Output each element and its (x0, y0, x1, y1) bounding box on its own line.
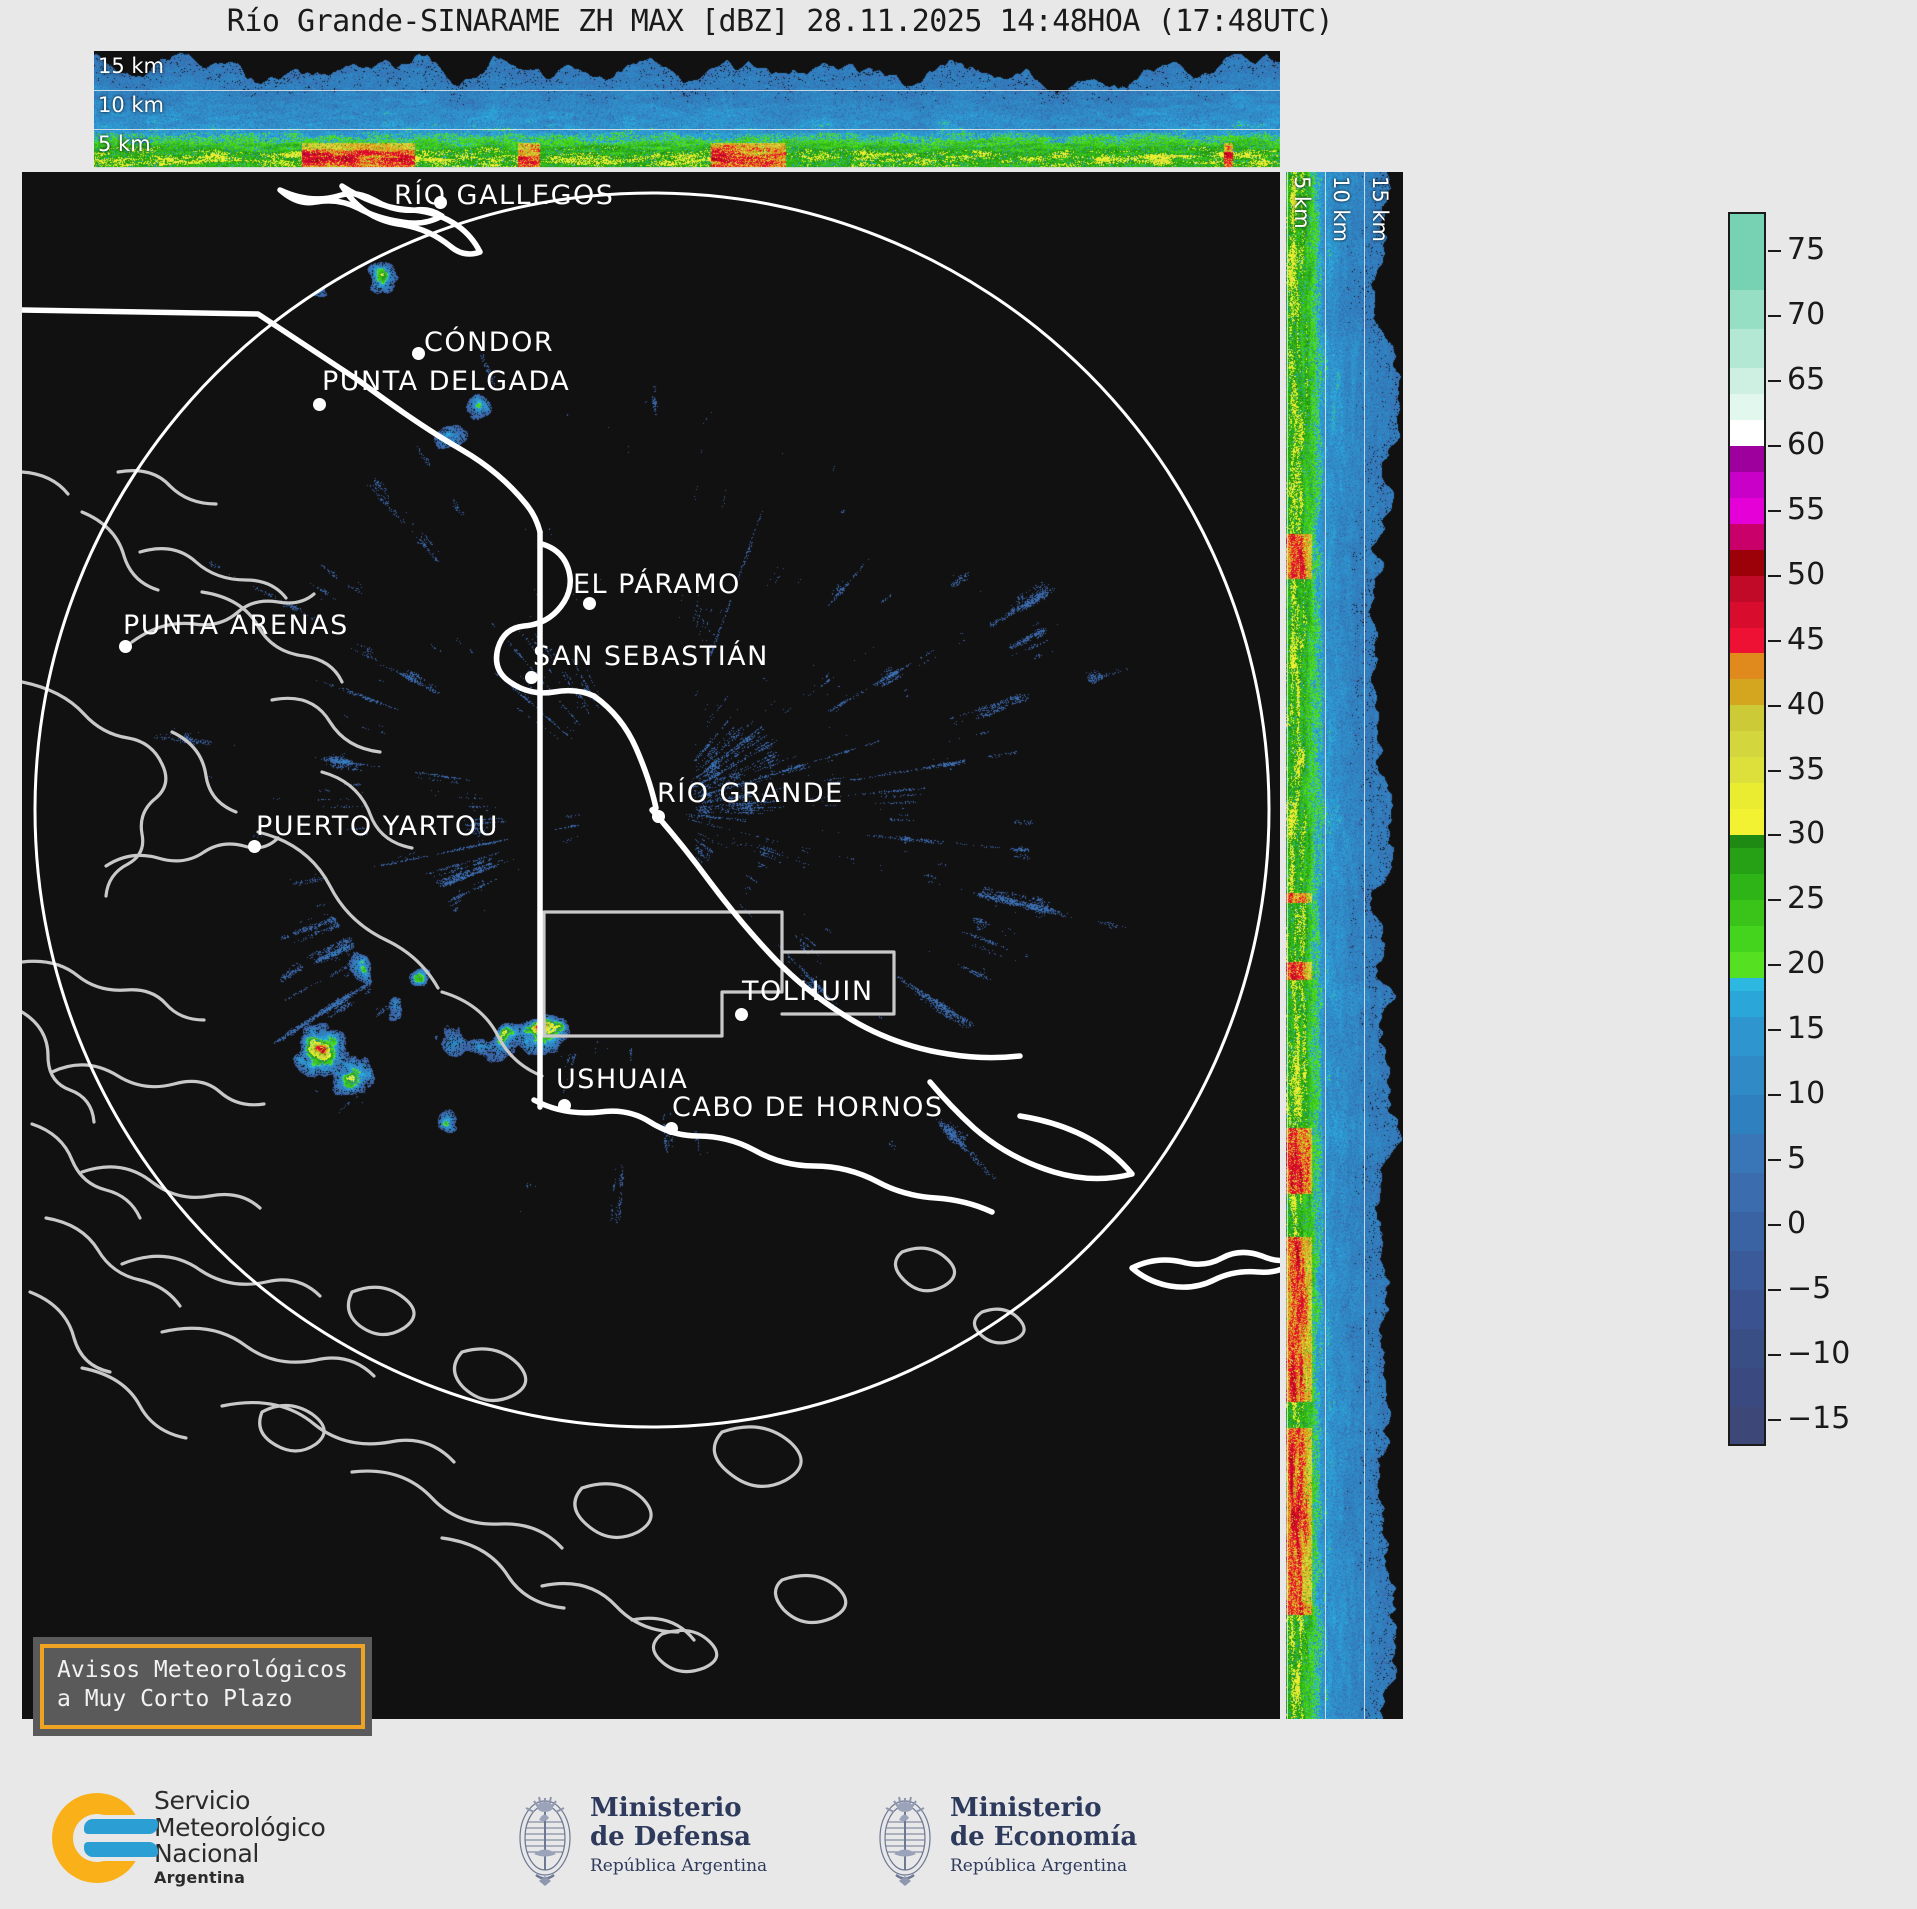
colorbar-band (1728, 524, 1766, 550)
colorbar-band (1728, 1212, 1766, 1251)
height-gridline-15km (94, 90, 1280, 91)
colorbar-band (1728, 1134, 1766, 1173)
place-label-r-o-gallegos: RÍO GALLEGOS (394, 182, 614, 209)
place-label-r-o-grande: RÍO GRANDE (657, 780, 844, 807)
colorbar-band (1728, 472, 1766, 498)
coastline-path (272, 698, 380, 752)
colorbar-band (1728, 757, 1766, 783)
colorbar-tick (1768, 315, 1781, 317)
defensa-wordmark: Ministerio de Defensa República Argentin… (590, 1794, 767, 1878)
place-marker-puerto-yartou (248, 840, 261, 853)
height-label-v-10km: 10 km (1330, 176, 1351, 242)
border-path (22, 310, 358, 380)
coat-of-arms-svg-economia (872, 1782, 938, 1890)
colorbar-label: 35 (1787, 755, 1825, 785)
coastline-path (82, 1368, 186, 1438)
colorbar-label: 30 (1787, 819, 1825, 849)
colorbar-tick (1768, 1419, 1781, 1421)
coastline-path (22, 472, 68, 494)
colorbar-tick (1768, 834, 1781, 836)
colorbar-band (1728, 550, 1766, 576)
map-overlay-layer (22, 172, 1280, 1719)
place-marker-ushuaia (558, 1099, 571, 1112)
coastline-path (172, 732, 236, 812)
place-marker-r-o-grande (652, 810, 665, 823)
colorbar-band (1728, 1056, 1766, 1095)
smn-line4: Argentina (154, 1868, 325, 1889)
colorbar-band (1728, 731, 1766, 757)
coastline-path (140, 549, 286, 598)
colorbar-band (1728, 653, 1766, 679)
colorbar-band (1728, 420, 1766, 446)
colorbar-band (1728, 1407, 1766, 1446)
place-marker-tolhuin (735, 1008, 748, 1021)
height-label-5km: 5 km (98, 134, 151, 155)
coastline-path (82, 1167, 260, 1208)
border-path (1132, 1252, 1280, 1287)
colorbar-tick (1768, 640, 1781, 642)
colorbar-band (1728, 212, 1766, 290)
place-label-cabo-de-hornos: CABO DE HORNOS (672, 1094, 944, 1121)
colorbar-label: 50 (1787, 560, 1825, 590)
colorbar-tick (1768, 1354, 1781, 1356)
logo-ministerio-defensa: Ministerio de Defensa República Argentin… (512, 1782, 767, 1890)
logo-smn: Servicio Meteorológico Nacional Argentin… (52, 1788, 325, 1888)
place-label-ushuaia: USHUAIA (556, 1066, 688, 1093)
coastline-path (653, 1630, 716, 1671)
smn-emblem-icon (52, 1793, 142, 1883)
colorbar-tick (1768, 445, 1781, 447)
colorbar (1728, 212, 1766, 1446)
colorbar-band (1728, 783, 1766, 809)
coastline-path (775, 1576, 845, 1623)
colorbar-tick (1768, 1159, 1781, 1161)
coastline-path (122, 1256, 320, 1296)
cross-section-top-canvas (94, 51, 1280, 168)
coastline-path (22, 961, 204, 1020)
height-label-v-15km: 15 km (1369, 176, 1390, 242)
colorbar-tick (1768, 770, 1781, 772)
economia-wordmark: Ministerio de Economía República Argenti… (950, 1794, 1137, 1878)
colorbar-band (1728, 809, 1766, 835)
radar-map-panel[interactable]: RÍO GALLEGOSCÓNDORPUNTA DELGADAPUNTA ARE… (22, 172, 1280, 1719)
place-label-tolhuin: TOLHUIN (742, 978, 874, 1005)
warning-badge-inner: Avisos Meteorológicos a Muy Corto Plazo (40, 1644, 365, 1729)
colorbar-band (1728, 874, 1766, 900)
coastline-layer (22, 471, 1024, 1672)
coastline-path (260, 1405, 324, 1451)
colorbar-band (1728, 926, 1766, 952)
colorbar-label: 70 (1787, 300, 1825, 330)
coastline-path (974, 1309, 1024, 1343)
border-path (358, 380, 540, 532)
coastline-path (162, 1328, 374, 1376)
colorbar-label: 75 (1787, 235, 1825, 265)
colorbar-band (1728, 290, 1766, 329)
place-label-san-sebasti-n: SAN SEBASTIÁN (533, 643, 769, 670)
coastline-path (442, 1538, 564, 1608)
colorbar-band (1728, 848, 1766, 874)
warning-badge[interactable]: Avisos Meteorológicos a Muy Corto Plazo (33, 1637, 372, 1736)
warning-badge-line1: Avisos Meteorológicos (57, 1656, 348, 1685)
coastline-path (348, 1287, 414, 1334)
colorbar-band (1728, 602, 1766, 628)
coastline-path (258, 832, 438, 988)
colorbar-band (1728, 679, 1766, 705)
height-label-10km: 10 km (98, 95, 164, 116)
colorbar-band (1728, 446, 1766, 472)
cross-section-top-panel: 15 km 10 km 5 km (94, 51, 1280, 168)
defensa-line2: de Defensa (590, 1823, 767, 1852)
colorbar-band (1728, 394, 1766, 420)
colorbar-label: 0 (1787, 1209, 1806, 1239)
colorbar-band (1728, 991, 1766, 1017)
colorbar-tick (1768, 964, 1781, 966)
place-marker-punta-arenas (119, 640, 132, 653)
colorbar-band (1728, 835, 1766, 848)
logo-ministerio-economia: Ministerio de Economía República Argenti… (872, 1782, 1137, 1890)
height-label-15km: 15 km (98, 56, 164, 77)
place-label-puerto-yartou: PUERTO YARTOU (256, 813, 499, 840)
defensa-line1: Ministerio (590, 1794, 767, 1823)
cross-section-right-canvas (1286, 172, 1403, 1719)
colorbar-band (1728, 498, 1766, 524)
colorbar-tick (1768, 1289, 1781, 1291)
height-gridline-v-5km (1325, 172, 1326, 1719)
colorbar-label: 45 (1787, 625, 1825, 655)
height-gridline-v-10km (1364, 172, 1365, 1719)
coastline-path (46, 1218, 180, 1306)
place-marker-r-o-gallegos (434, 196, 447, 209)
colorbar-tick (1768, 705, 1781, 707)
colorbar-band (1728, 978, 1766, 991)
place-marker-san-sebasti-n (525, 671, 538, 684)
smn-wave-upper (84, 1819, 158, 1834)
place-marker-el-p-ramo (583, 597, 596, 610)
height-label-v-5km: 5 km (1291, 176, 1312, 229)
smn-wordmark: Servicio Meteorológico Nacional Argentin… (154, 1788, 325, 1888)
argentina-coat-of-arms-icon (512, 1782, 578, 1890)
coat-of-arms-svg-defensa (512, 1782, 578, 1890)
height-gridline-v-0km (1287, 172, 1288, 1719)
economia-line1: Ministerio (950, 1794, 1137, 1823)
colorbar-tick (1768, 250, 1781, 252)
colorbar-band (1728, 1290, 1766, 1329)
footer-logo-bar: Servicio Meteorológico Nacional Argentin… (0, 1770, 1917, 1909)
height-gridline-5km (94, 167, 1280, 168)
defensa-line3: República Argentina (590, 1855, 767, 1878)
coastline-path (30, 1292, 110, 1372)
coastline-path (222, 1403, 454, 1462)
colorbar-tick (1768, 1029, 1781, 1031)
coastline-path (22, 1012, 94, 1122)
colorbar-band (1728, 628, 1766, 654)
coastline-path (895, 1248, 954, 1291)
height-gridline-10km (94, 129, 1280, 130)
colorbar-tick (1768, 575, 1781, 577)
colorbar-label: 40 (1787, 690, 1825, 720)
colorbar-label: 55 (1787, 495, 1825, 525)
warning-badge-line2: a Muy Corto Plazo (57, 1685, 348, 1714)
coastline-path (352, 1471, 562, 1548)
colorbar-tick (1768, 1094, 1781, 1096)
colorbar-label: 15 (1787, 1014, 1825, 1044)
colorbar-label: 5 (1787, 1144, 1806, 1174)
colorbar-band (1728, 1095, 1766, 1134)
cross-section-right-panel: 5 km 10 km 15 km (1286, 172, 1403, 1719)
colorbar-tick (1768, 1224, 1781, 1226)
colorbar-label: 60 (1787, 430, 1825, 460)
place-marker-punta-delgada (313, 398, 326, 411)
place-label-el-p-ramo: EL PÁRAMO (573, 571, 741, 598)
coastline-path (714, 1427, 801, 1487)
colorbar-tick (1768, 510, 1781, 512)
colorbar-band (1728, 1173, 1766, 1212)
place-label-punta-delgada: PUNTA DELGADA (322, 368, 570, 395)
colorbar-band (1728, 952, 1766, 978)
colorbar-label: 20 (1787, 949, 1825, 979)
place-label-c-ndor: CÓNDOR (424, 329, 554, 356)
smn-line2: Meteorológico (154, 1815, 325, 1842)
colorbar-label: −10 (1787, 1339, 1850, 1369)
colorbar-label: 10 (1787, 1079, 1825, 1109)
colorbar-tick (1768, 380, 1781, 382)
place-marker-c-ndor (412, 347, 425, 360)
smn-line1: Servicio (154, 1788, 325, 1815)
economia-line3: República Argentina (950, 1855, 1137, 1878)
smn-wave-lower (84, 1842, 158, 1857)
coastline-path (442, 992, 542, 1076)
colorbar-band (1728, 1368, 1766, 1407)
colorbar-band (1728, 1329, 1766, 1368)
economia-line2: de Economía (950, 1823, 1137, 1852)
place-label-punta-arenas: PUNTA ARENAS (123, 612, 349, 639)
border-path (930, 1082, 1132, 1179)
border-layer (22, 186, 1280, 1287)
colorbar-band (1728, 576, 1766, 602)
coastline-path (454, 1349, 525, 1401)
smn-line3: Nacional (154, 1841, 325, 1868)
page-title: Río Grande-SINARAME ZH MAX [dBZ] 28.11.2… (0, 4, 1560, 39)
colorbar-band (1728, 329, 1766, 368)
colorbar-band (1728, 1251, 1766, 1290)
colorbar-label: 25 (1787, 884, 1825, 914)
colorbar-tick (1768, 899, 1781, 901)
place-marker-cabo-de-hornos (665, 1122, 678, 1135)
argentina-coat-of-arms-icon-2 (872, 1782, 938, 1890)
border-path (497, 544, 595, 696)
colorbar-label: 65 (1787, 365, 1825, 395)
colorbar-band (1728, 900, 1766, 926)
colorbar-label: −15 (1787, 1404, 1850, 1434)
coastline-path (575, 1484, 651, 1538)
colorbar-band (1728, 705, 1766, 731)
colorbar-label: −5 (1787, 1274, 1831, 1304)
colorbar-band (1728, 368, 1766, 394)
colorbar-band (1728, 1017, 1766, 1056)
